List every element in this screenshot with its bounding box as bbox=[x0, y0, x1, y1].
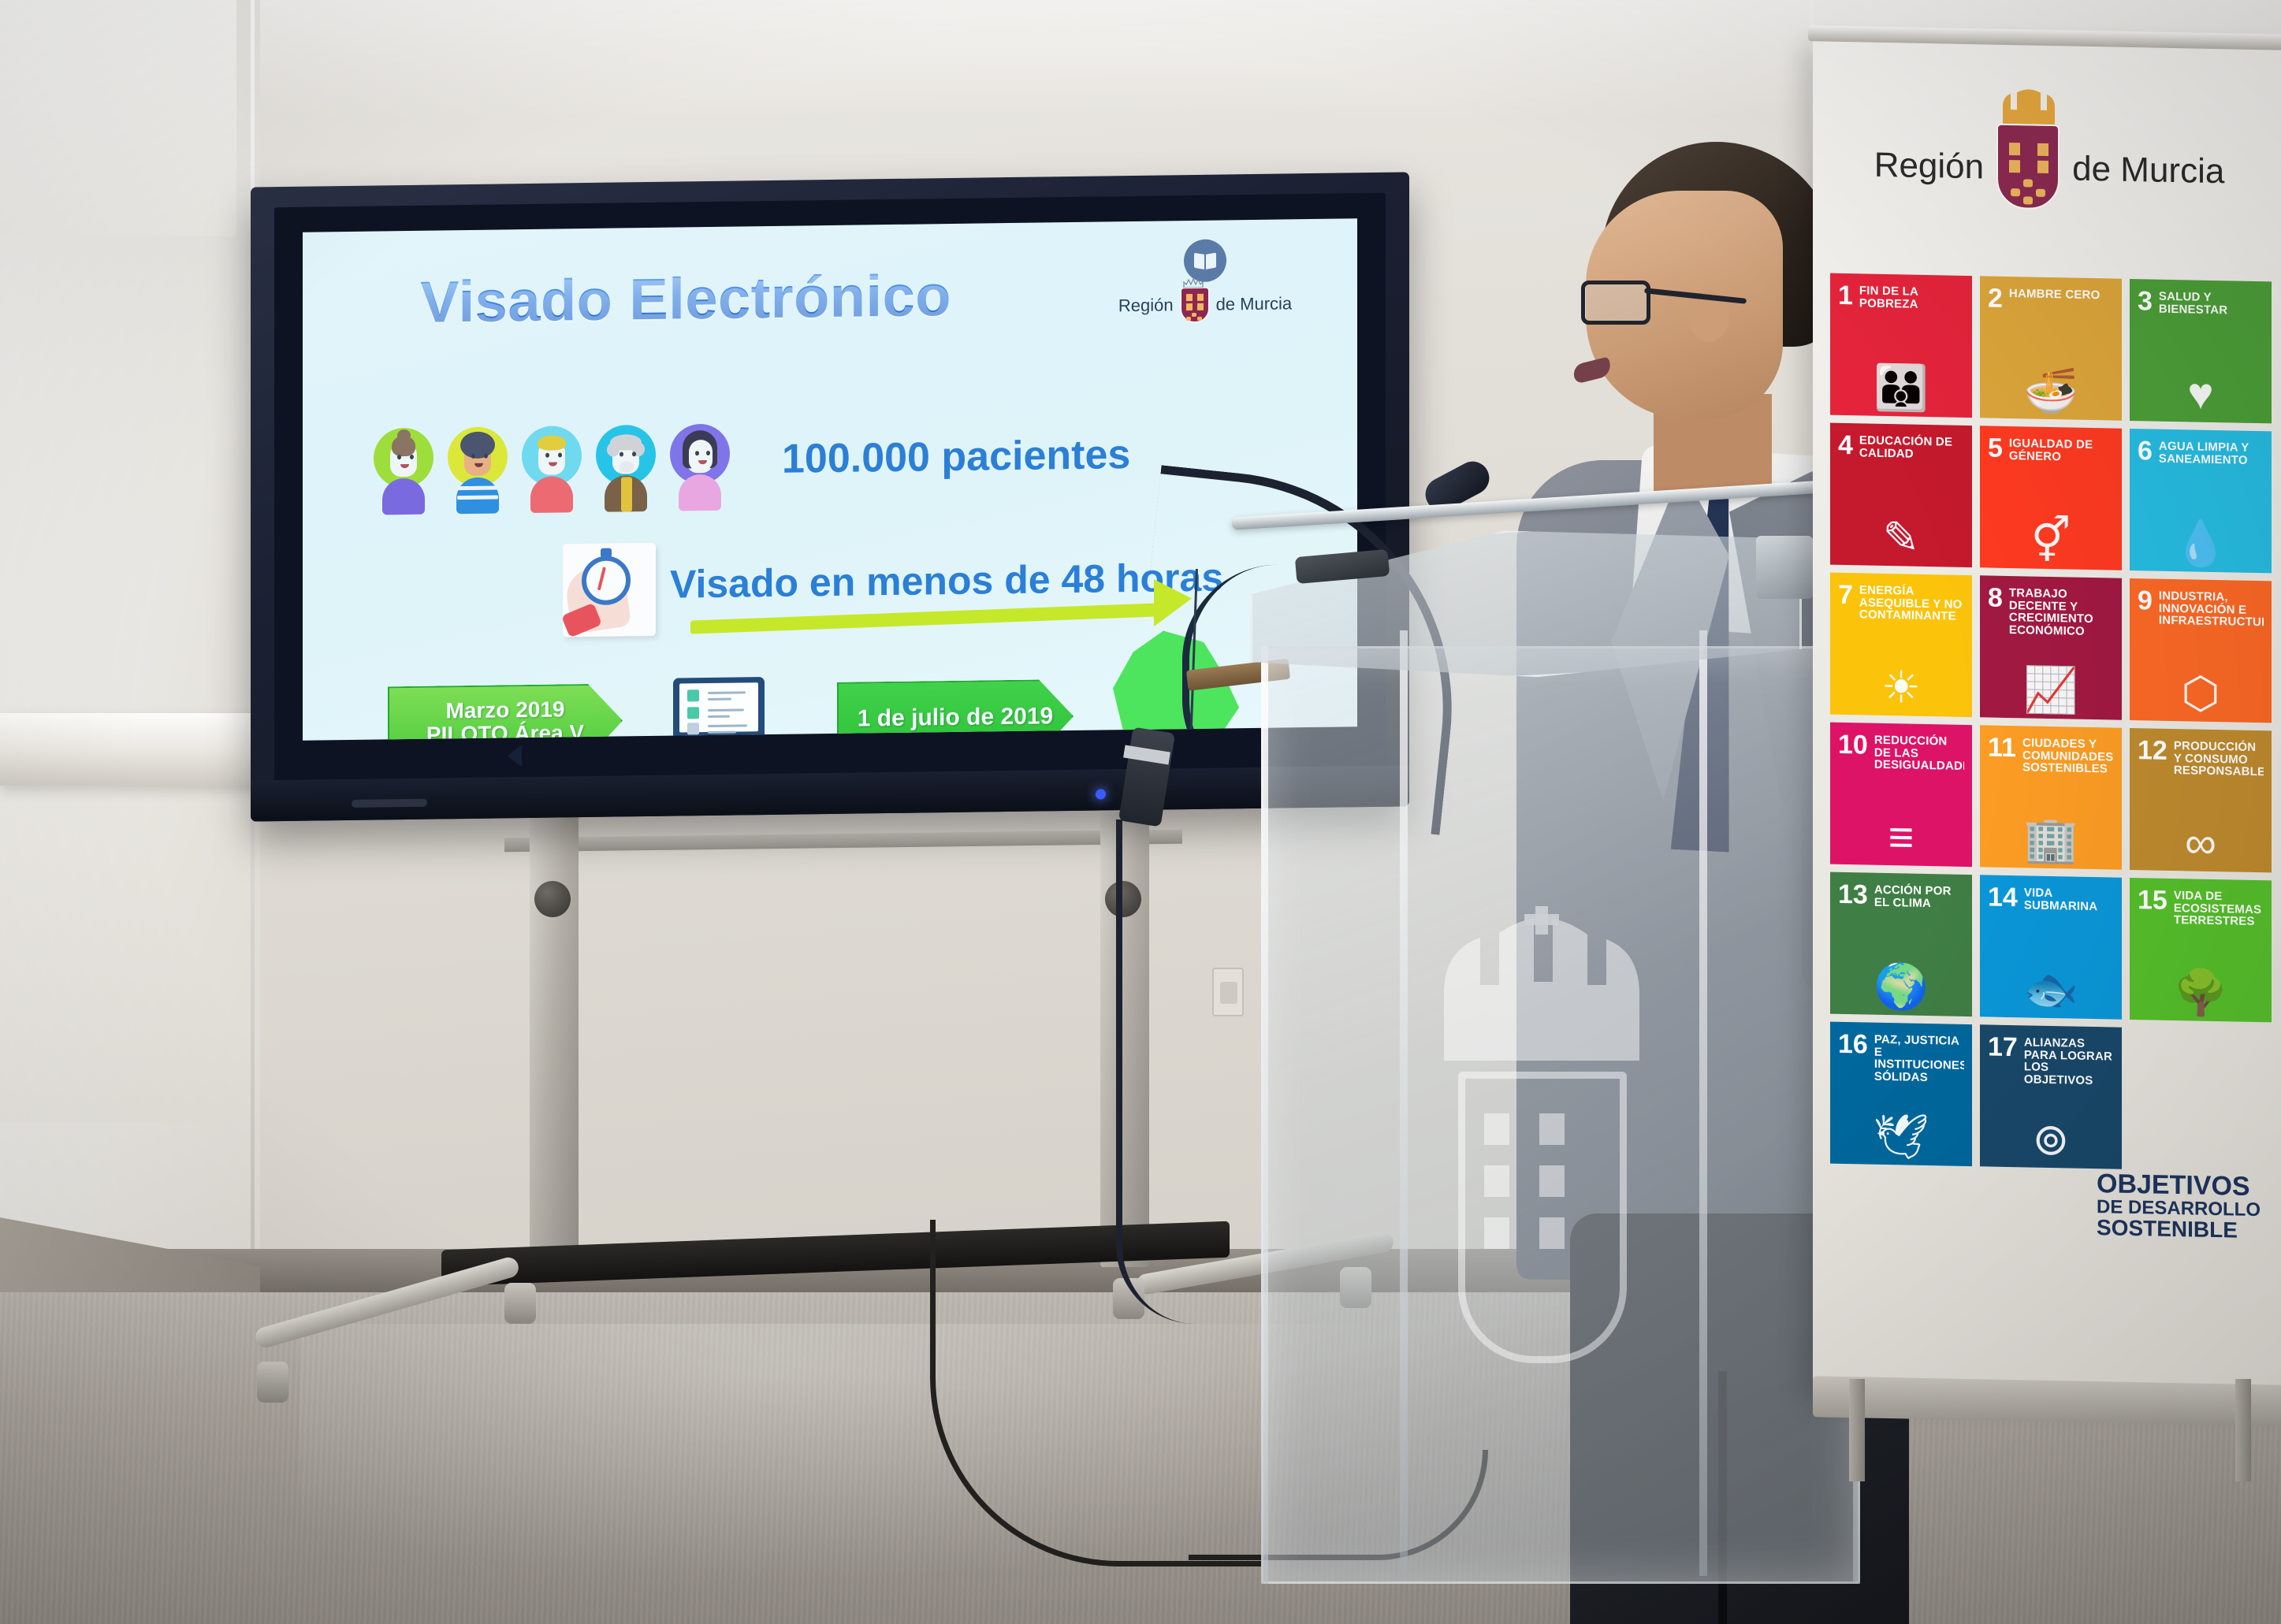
sdg-number: 17 bbox=[1988, 1034, 2018, 1061]
sdg-goal-5: 5Igualdad de género⚥ bbox=[1980, 426, 2122, 570]
sdg-label: Trabajo decente y crecimiento económico bbox=[2009, 585, 2114, 638]
ir-sensor bbox=[352, 799, 427, 808]
banner-leg-right bbox=[2235, 1379, 2251, 1481]
sdg-label: Educación de calidad bbox=[1859, 432, 1964, 461]
sdg-goal-4: 4Educación de calidad✎ bbox=[1830, 423, 1972, 567]
sdg-label: Alianzas para lograr los objetivos bbox=[2024, 1034, 2114, 1087]
sdg-label: Industria, innovación e infraestructura bbox=[2159, 588, 2264, 629]
sdg-goal-9: 9Industria, innovación e infraestructura… bbox=[2130, 578, 2272, 723]
equal-arrows-icon: ≡ bbox=[1888, 815, 1914, 860]
sdg-goal-12: 12Producción y consumo responsables∞ bbox=[2130, 728, 2272, 872]
sdg-goal-17: 17Alianzas para lograr los objetivos⊚ bbox=[1980, 1024, 2122, 1169]
gender-equality-icon: ⚥ bbox=[2031, 518, 2071, 563]
sdg-goal-grid: 1Fin de la pobreza👪2Hambre cero🍜3Salud y… bbox=[1830, 273, 2272, 1172]
rings-circle-icon: ⊚ bbox=[2033, 1117, 2070, 1162]
sdg-goal-1: 1Fin de la pobreza👪 bbox=[1830, 273, 1972, 418]
microphone-cable bbox=[1116, 819, 1226, 1324]
mouth bbox=[1572, 357, 1613, 385]
sdg-goal-2: 2Hambre cero🍜 bbox=[1980, 276, 2122, 420]
logo-word-left: Región bbox=[1118, 295, 1174, 316]
sdg-label: Acción por el clima bbox=[1874, 882, 1964, 910]
window-reveal bbox=[0, 0, 236, 236]
sdg-number: 9 bbox=[2138, 587, 2153, 614]
steaming-bowl-icon: 🍜 bbox=[2023, 368, 2078, 413]
tree-bird-icon: 🌳 bbox=[2173, 970, 2228, 1015]
sdg-label: Ciudades y comunidades sostenibles bbox=[2022, 734, 2114, 775]
sdg-goal-6: 6Agua limpia y saneamiento💧 bbox=[2130, 429, 2272, 573]
sdg-goal-8: 8Trabajo decente y crecimiento económico… bbox=[1980, 575, 2122, 719]
sdg-number: 10 bbox=[1838, 731, 1868, 759]
banner-header: Región de Murcia bbox=[1813, 85, 2281, 252]
logo-word-right: de Murcia bbox=[1216, 293, 1293, 314]
caster-wheel bbox=[504, 1283, 536, 1324]
bezel-marker-left bbox=[508, 745, 522, 767]
sdg-number: 1 bbox=[1838, 282, 1853, 309]
sdg-number: 16 bbox=[1838, 1031, 1868, 1058]
sdg-number: 12 bbox=[2138, 737, 2168, 764]
sdg-label: Hambre cero bbox=[2009, 285, 2114, 302]
stopwatch-in-hand-icon bbox=[563, 543, 656, 637]
laptop-checklist-icon bbox=[659, 677, 779, 741]
sdg-label: Producción y consumo responsables bbox=[2174, 738, 2264, 779]
region-crest-icon bbox=[1181, 286, 1209, 324]
wall-below-window bbox=[0, 784, 254, 1123]
sdg-goal-3: 3Salud y bienestar♥ bbox=[2130, 279, 2272, 423]
sdg-number: 8 bbox=[1988, 585, 2003, 611]
sdg-goal-15: 15Vida de ecosistemas terrestres🌳 bbox=[2130, 878, 2272, 1022]
patients-stat: 100.000 pacientes bbox=[782, 431, 1130, 483]
region-crest-icon bbox=[1996, 124, 2060, 214]
window-sill bbox=[0, 713, 260, 786]
globe-eye-icon: 🌍 bbox=[1874, 964, 1929, 1009]
city-icon: 🏢 bbox=[2023, 817, 2078, 862]
timeline-banner-pilot: Marzo 2019 PILOTO Área V bbox=[388, 683, 623, 740]
sdg-number: 7 bbox=[1838, 582, 1853, 608]
sdg-goal-10: 10Reducción de las desigualdades≡ bbox=[1830, 723, 1972, 867]
sdg-label: Vida submarina bbox=[2024, 884, 2114, 912]
patient-avatars bbox=[370, 424, 732, 515]
sdg-label: Reducción de las desigualdades bbox=[1874, 732, 1964, 773]
press-conference-scene: Visado Electrónico Región bbox=[0, 0, 2281, 1624]
sdg-number: 3 bbox=[2138, 288, 2153, 314]
cube-network-icon: ⬡ bbox=[2182, 671, 2220, 715]
sdg-number: 5 bbox=[1988, 435, 2003, 462]
banner-word-right: de Murcia bbox=[2072, 150, 2224, 192]
caster-wheel bbox=[257, 1362, 288, 1403]
avatar bbox=[667, 424, 732, 511]
stand-knob-left[interactable] bbox=[534, 881, 571, 917]
sdg-goal-7: 7Energía asequible y no contaminante☀ bbox=[1830, 573, 1972, 717]
sun-energy-icon: ☀ bbox=[1881, 665, 1921, 710]
sdg-footer-line3: SOSTENIBLE bbox=[2097, 1217, 2281, 1243]
timeline-golive-line1: 1 de julio de 2019 bbox=[858, 704, 1053, 732]
sdg-label: Energía asequible y no contaminante bbox=[1859, 582, 1964, 622]
eyeglasses-icon bbox=[1581, 281, 1650, 325]
sdg-label: Fin de la pobreza bbox=[1859, 282, 1964, 311]
sdg-number: 13 bbox=[1838, 881, 1868, 909]
sdg-label: Paz, justicia e instituciones sólidas bbox=[1874, 1031, 1964, 1085]
lectern-clamp-right bbox=[1756, 536, 1813, 599]
sdg-goal-11: 11Ciudades y comunidades sostenibles🏢 bbox=[1980, 725, 2122, 869]
sdg-label: Vida de ecosistemas terrestres bbox=[2174, 887, 2264, 928]
sdg-number: 15 bbox=[2138, 886, 2168, 914]
sdg-number: 11 bbox=[1988, 734, 2016, 762]
rollup-banner: Región de Murcia 1Fin de bbox=[1813, 36, 2281, 1401]
banner-word-left: Región bbox=[1874, 146, 1984, 188]
highlight-bar bbox=[690, 603, 1163, 634]
dove-gavel-icon: 🕊 bbox=[1873, 1114, 1929, 1159]
avatar bbox=[445, 426, 510, 514]
sdg-number: 6 bbox=[2138, 437, 2153, 464]
lectern-crest-icon bbox=[1412, 906, 1673, 1379]
book-pencil-icon: ✎ bbox=[1883, 515, 1920, 560]
family-icon: 👪 bbox=[1874, 366, 1929, 411]
timeline-pilot-line1: Marzo 2019 bbox=[426, 697, 584, 723]
sdg-footer-text: OBJETIVOS DE DESARROLLO SOSTENIBLE bbox=[2097, 1170, 2281, 1243]
slide-logo: Región bbox=[1099, 238, 1312, 325]
stand-column-left bbox=[530, 812, 579, 1267]
slide-title: Visado Electrónico bbox=[363, 261, 1009, 336]
fish-icon: 🐟 bbox=[2023, 967, 2078, 1012]
sdg-number: 2 bbox=[1988, 285, 2003, 312]
sdg-label: Agua limpia y saneamiento bbox=[2159, 438, 2264, 467]
sdg-label: Salud y bienestar bbox=[2159, 288, 2264, 318]
sdg-number: 14 bbox=[1988, 884, 2018, 912]
avatar bbox=[593, 425, 658, 512]
heartbeat-icon: ♥ bbox=[2187, 371, 2213, 416]
water-drop-icon: 💧 bbox=[2173, 521, 2228, 566]
sdg-number: 4 bbox=[1838, 432, 1853, 459]
infinity-loop-icon: ∞ bbox=[2185, 820, 2216, 865]
glass-lectern bbox=[1261, 646, 1860, 1584]
sdg-goal-13: 13Acción por el clima🌍 bbox=[1830, 872, 1972, 1016]
book-circle-icon bbox=[1184, 239, 1226, 282]
sdg-label: Igualdad de género bbox=[2009, 435, 2114, 464]
sdg-goal-16: 16Paz, justicia e instituciones sólidas🕊 bbox=[1830, 1022, 1972, 1166]
growth-chart-icon: 📈 bbox=[2023, 667, 2078, 712]
timeline-banner-golive: 1 de julio de 2019 bbox=[837, 679, 1074, 741]
banner-leg-left bbox=[1849, 1379, 1865, 1481]
sdg-goal-14: 14Vida submarina🐟 bbox=[1980, 875, 2122, 1019]
avatar bbox=[370, 428, 436, 515]
avatar bbox=[519, 426, 584, 513]
timeline-pilot-line2: PILOTO Área V bbox=[426, 721, 584, 741]
